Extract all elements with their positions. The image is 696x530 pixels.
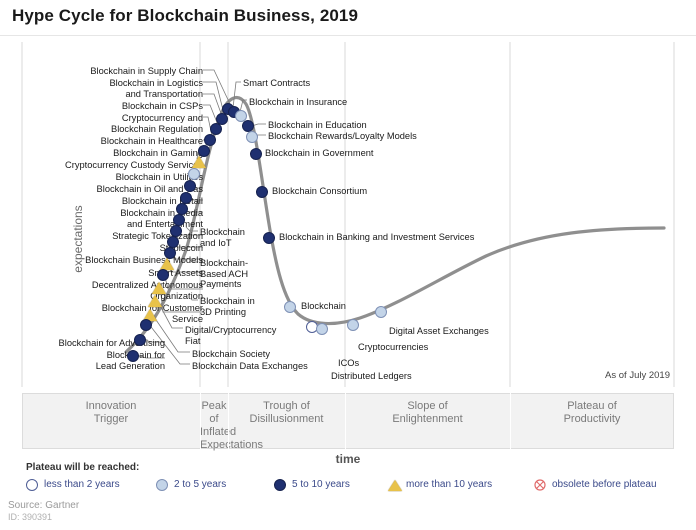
marker-dark-circle[interactable]	[250, 148, 262, 160]
source-id: ID: 390391	[8, 512, 52, 522]
point-label: Blockchain for Lead Generation	[26, 350, 165, 371]
marker-light-circle[interactable]	[375, 306, 387, 318]
point-label: Blockchain in Education	[268, 120, 398, 131]
marker-light-circle[interactable]	[188, 168, 200, 180]
phase-separator	[345, 393, 346, 449]
title-divider	[0, 35, 696, 36]
point-label: Blockchain Business Models	[26, 255, 203, 266]
marker-dark-circle[interactable]	[204, 134, 216, 146]
dark-circle-icon	[274, 479, 286, 491]
legend: less than 2 years2 to 5 years5 to 10 yea…	[26, 477, 646, 495]
legend-title: Plateau will be reached:	[26, 462, 139, 473]
marker-dark-circle[interactable]	[157, 269, 169, 281]
marker-dark-circle[interactable]	[184, 180, 196, 192]
point-label: Blockchain	[301, 301, 381, 312]
point-label: Smart Contracts	[243, 78, 353, 89]
crossed-circle-icon	[534, 479, 546, 491]
point-label: Blockchain in Government	[265, 148, 415, 159]
phase-separator	[200, 393, 201, 449]
point-label: Blockchain in 3D Printing	[200, 296, 270, 317]
legend-item-label: 5 to 10 years	[292, 479, 350, 490]
point-label: Blockchain in Logistics and Transportati…	[78, 78, 203, 99]
phase-separator	[228, 393, 229, 449]
legend-item-label: 2 to 5 years	[174, 479, 226, 490]
marker-dark-circle[interactable]	[210, 123, 222, 135]
point-label: Cryptocurrency Custody Services	[26, 160, 203, 171]
page-title: Hype Cycle for Blockchain Business, 2019	[12, 6, 358, 26]
marker-dark-circle[interactable]	[127, 350, 139, 362]
point-label: Distributed Ledgers	[331, 371, 441, 382]
marker-dark-circle[interactable]	[263, 232, 275, 244]
marker-light-circle[interactable]	[284, 301, 296, 313]
phase-label-3: Slope of Enlightenment	[345, 400, 510, 426]
point-label: Blockchain Consortium	[272, 186, 422, 197]
phase-label-1: Peak of Inflated Expectations	[200, 400, 228, 452]
phase-label-0: Innovation Trigger	[22, 400, 200, 426]
point-label: Decentralized Autonomous Organization	[26, 280, 203, 301]
triangle-icon	[388, 480, 402, 491]
point-label: Blockchain in Gaming	[73, 148, 203, 159]
phase-separator	[510, 393, 511, 449]
light-circle-icon	[156, 479, 168, 491]
point-label: Blockchain in Banking and Investment Ser…	[279, 232, 489, 243]
point-label: Blockchain in Healthcare	[73, 136, 203, 147]
source-text: Source: Gartner	[8, 500, 79, 512]
point-label: Blockchain in Supply Chain	[78, 66, 203, 77]
phase-label-2: Trough of Disillusionment	[228, 400, 345, 426]
point-label: Blockchain Rewards/Loyalty Models	[268, 131, 443, 142]
point-label: Blockchain and IoT	[200, 227, 270, 248]
open-circle-icon	[26, 479, 38, 491]
legend-item-label: less than 2 years	[44, 479, 120, 490]
phase-label-4: Plateau of Productivity	[510, 400, 674, 426]
marker-light-circle[interactable]	[347, 319, 359, 331]
point-label: Blockchain for Customer Service	[26, 303, 203, 324]
point-label: Digital Asset Exchanges	[389, 326, 509, 337]
point-label: Blockchain Society	[192, 349, 302, 360]
point-label: Blockchain in CSPs	[78, 101, 203, 112]
marker-triangle[interactable]	[148, 295, 162, 307]
legend-item-label: more than 10 years	[406, 479, 492, 490]
as-of-date: As of July 2019	[605, 370, 670, 381]
point-label: Blockchain- Based ACH Payments	[200, 258, 270, 290]
point-label: Blockchain in Utilities	[26, 172, 203, 183]
point-label: ICOs	[338, 358, 398, 369]
marker-dark-circle[interactable]	[256, 186, 268, 198]
point-label: Blockchain in Insurance	[249, 97, 369, 108]
point-label: Digital/Cryptocurrency Fiat	[185, 325, 295, 346]
marker-dark-circle[interactable]	[140, 319, 152, 331]
marker-triangle[interactable]	[152, 282, 166, 294]
point-label: Smart Assets	[26, 268, 203, 279]
marker-light-circle[interactable]	[316, 323, 328, 335]
marker-dark-circle[interactable]	[134, 334, 146, 346]
marker-triangle[interactable]	[192, 156, 206, 168]
marker-light-circle[interactable]	[246, 131, 258, 143]
point-label: Blockchain in Oil and Gas	[26, 184, 203, 195]
point-label: Cryptocurrency and Blockchain Regulation	[73, 113, 203, 134]
point-label: Cryptocurrencies	[358, 342, 468, 353]
legend-item-label: obsolete before plateau	[552, 479, 657, 490]
point-label: Blockchain Data Exchanges	[192, 361, 322, 372]
